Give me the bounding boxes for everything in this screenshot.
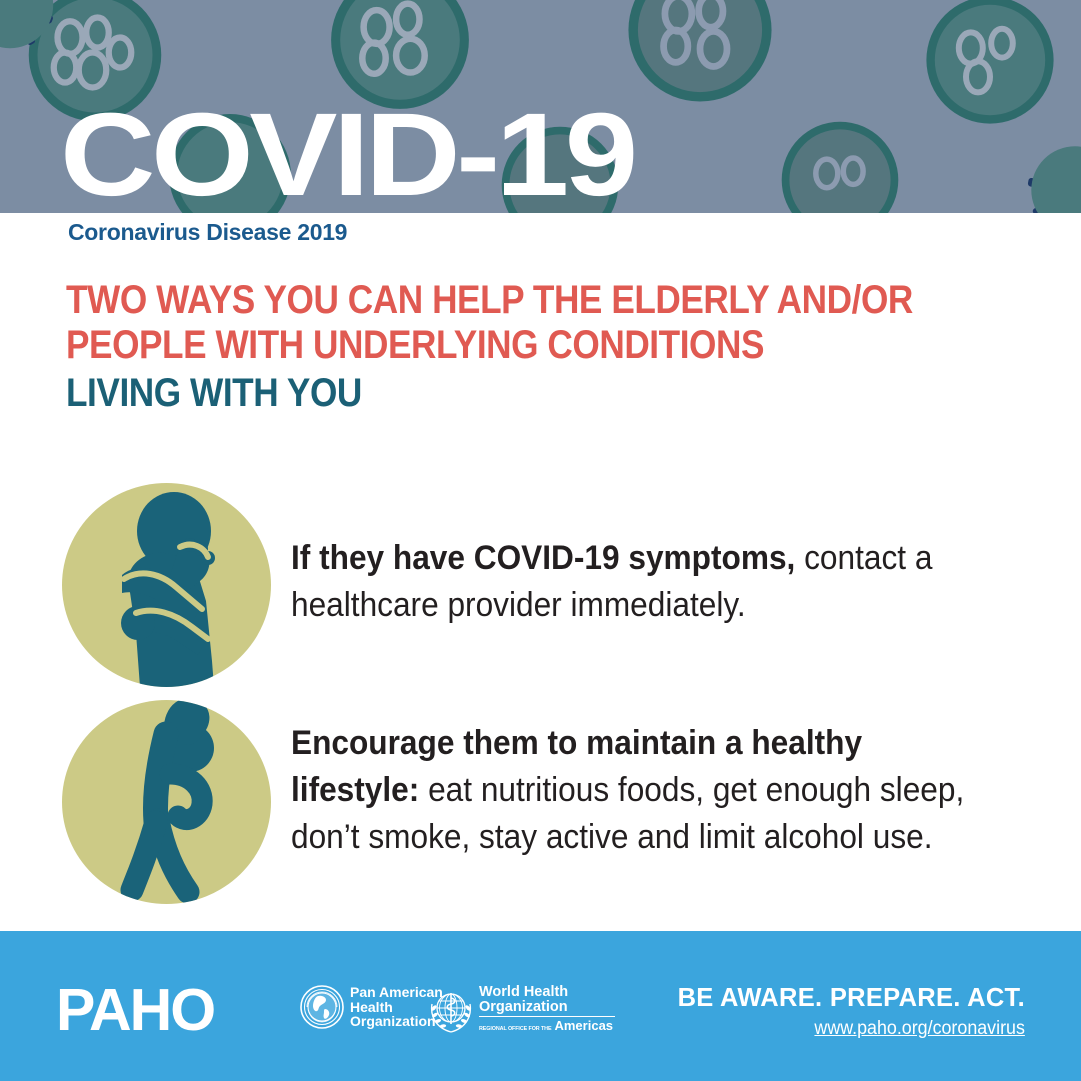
bullet-text-1: If they have COVID-19 symptoms, contact … [291, 535, 970, 629]
icon-circle-2 [62, 700, 271, 904]
icon-circle-1 [62, 483, 271, 687]
footer-tagline: BE AWARE. PREPARE. ACT. [678, 984, 1025, 1013]
paho-logo-group: Pan American Health Organization [300, 985, 443, 1029]
active-person-icon [62, 700, 271, 904]
who-org-name: World Health Organization REGIONAL OFFIC… [479, 985, 615, 1037]
who-line-2: Organization [479, 1000, 615, 1015]
who-line-1: World Health [479, 985, 615, 1000]
who-emblem-icon [428, 988, 474, 1034]
paho-globe-icon [300, 985, 344, 1029]
page-title: COVID-19 [60, 96, 634, 214]
who-region-name: Americas [554, 1018, 613, 1033]
paho-wordmark: PAHO [56, 981, 214, 1040]
who-logo-group: World Health Organization REGIONAL OFFIC… [428, 985, 615, 1037]
page-subtitle: Coronavirus Disease 2019 [68, 219, 347, 246]
headline-line-3: LIVING WITH YOU [66, 371, 858, 416]
footer-url-link[interactable]: www.paho.org/coronavirus [815, 1018, 1025, 1040]
who-region-line: REGIONAL OFFICE FOR THE Americas [479, 1018, 615, 1037]
headline-block: TWO WAYS YOU CAN HELP THE ELDERLY AND/OR… [66, 278, 966, 416]
who-divider [479, 1016, 615, 1017]
who-region-prefix: REGIONAL OFFICE FOR THE [479, 1022, 551, 1037]
bullet-1-bold: If they have COVID-19 symptoms, [291, 539, 795, 577]
headline-line-1: TWO WAYS YOU CAN HELP THE ELDERLY AND/OR [66, 278, 858, 323]
coughing-person-icon [62, 483, 271, 687]
infographic-poster: COVID-19 Coronavirus Disease 2019 TWO WA… [0, 0, 1081, 1081]
bullet-text-2: Encourage them to maintain a healthy lif… [291, 720, 970, 861]
headline-line-2: PEOPLE WITH UNDERLYING CONDITIONS [66, 323, 858, 368]
